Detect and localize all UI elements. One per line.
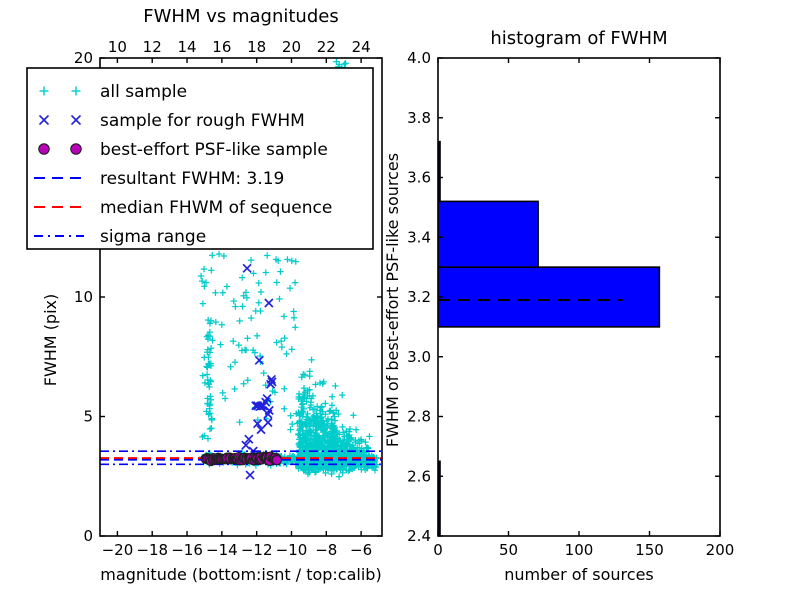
left-xtick-label: −8	[315, 541, 337, 559]
left-xtick-top-label: 24	[352, 38, 371, 56]
left-panel-ylabel: FWHM (pix)	[41, 294, 60, 387]
left-panel-title: FWHM vs magnitudes	[143, 6, 338, 27]
legend-item-label: all sample	[100, 82, 187, 102]
left-xtick-top-label: 12	[143, 38, 162, 56]
legend-item-label: best-effort PSF-like sample	[100, 140, 328, 160]
left-xtick-label: −20	[102, 541, 134, 559]
left-xtick-label: −18	[136, 541, 168, 559]
right-ytick-label: 3.4	[407, 228, 431, 246]
left-ytick-label: 10	[74, 288, 93, 306]
left-xtick-top-label: 18	[247, 38, 266, 56]
legend-item-label: resultant FWHM: 3.19	[100, 169, 284, 189]
right-panel-xlabel: number of sources	[504, 565, 654, 584]
figure-canvas: −20−18−16−14−12−10−8−6101214161820222405…	[0, 0, 800, 600]
histogram-bar	[438, 267, 659, 327]
right-ytick-label: 3.2	[407, 288, 431, 306]
left-ytick-label: 5	[83, 408, 93, 426]
left-panel-xlabel: magnitude (bottom:isnt / top:calib)	[100, 565, 381, 584]
right-ytick-label: 3.6	[407, 169, 431, 187]
right-ytick-label: 4.0	[407, 49, 431, 67]
left-xtick-top-label: 16	[212, 38, 231, 56]
right-panel-histogram: 0501001502002.42.62.83.03.23.43.63.84.0 …	[383, 28, 734, 584]
legend-item-label: sample for rough FWHM	[100, 111, 305, 131]
left-ytick-label: 0	[83, 527, 93, 545]
right-xtick-label: 200	[706, 541, 735, 559]
right-xtick-label: 150	[635, 541, 664, 559]
legend-item-label: median FHWM of sequence	[100, 198, 332, 218]
right-xtick-label: 100	[565, 541, 594, 559]
left-xtick-label: −6	[350, 541, 372, 559]
left-xtick-label: −12	[241, 541, 273, 559]
histogram-bar	[438, 201, 538, 267]
right-ytick-label: 2.8	[407, 408, 431, 426]
left-xtick-label: −16	[171, 541, 203, 559]
left-xtick-top-label: 22	[317, 38, 336, 56]
right-xtick-label: 0	[433, 541, 443, 559]
right-xtick-label: 50	[499, 541, 518, 559]
legend-box[interactable]: all samplesample for rough FWHMbest-effo…	[27, 68, 373, 249]
right-ytick-label: 2.6	[407, 467, 431, 485]
right-ytick-label: 3.8	[407, 109, 431, 127]
series-best-effort-psf-like-sample	[201, 452, 281, 466]
right-ytick-label: 2.4	[407, 527, 431, 545]
legend-item-label: sigma range	[100, 227, 206, 247]
right-panel-title: histogram of FWHM	[490, 28, 667, 49]
right-ytick-label: 3.0	[407, 348, 431, 366]
psf-like-point	[272, 456, 281, 465]
right-panel-ylabel: FWHM of best-effort PSF-like sources	[383, 153, 402, 447]
left-ytick-label: 20	[74, 49, 93, 67]
matplotlib-figure: −20−18−16−14−12−10−8−6101214161820222405…	[0, 0, 800, 600]
left-xtick-top-label: 20	[282, 38, 301, 56]
left-xtick-label: −10	[276, 541, 308, 559]
left-xtick-top-label: 10	[108, 38, 127, 56]
left-xtick-label: −14	[206, 541, 238, 559]
left-xtick-top-label: 14	[177, 38, 196, 56]
